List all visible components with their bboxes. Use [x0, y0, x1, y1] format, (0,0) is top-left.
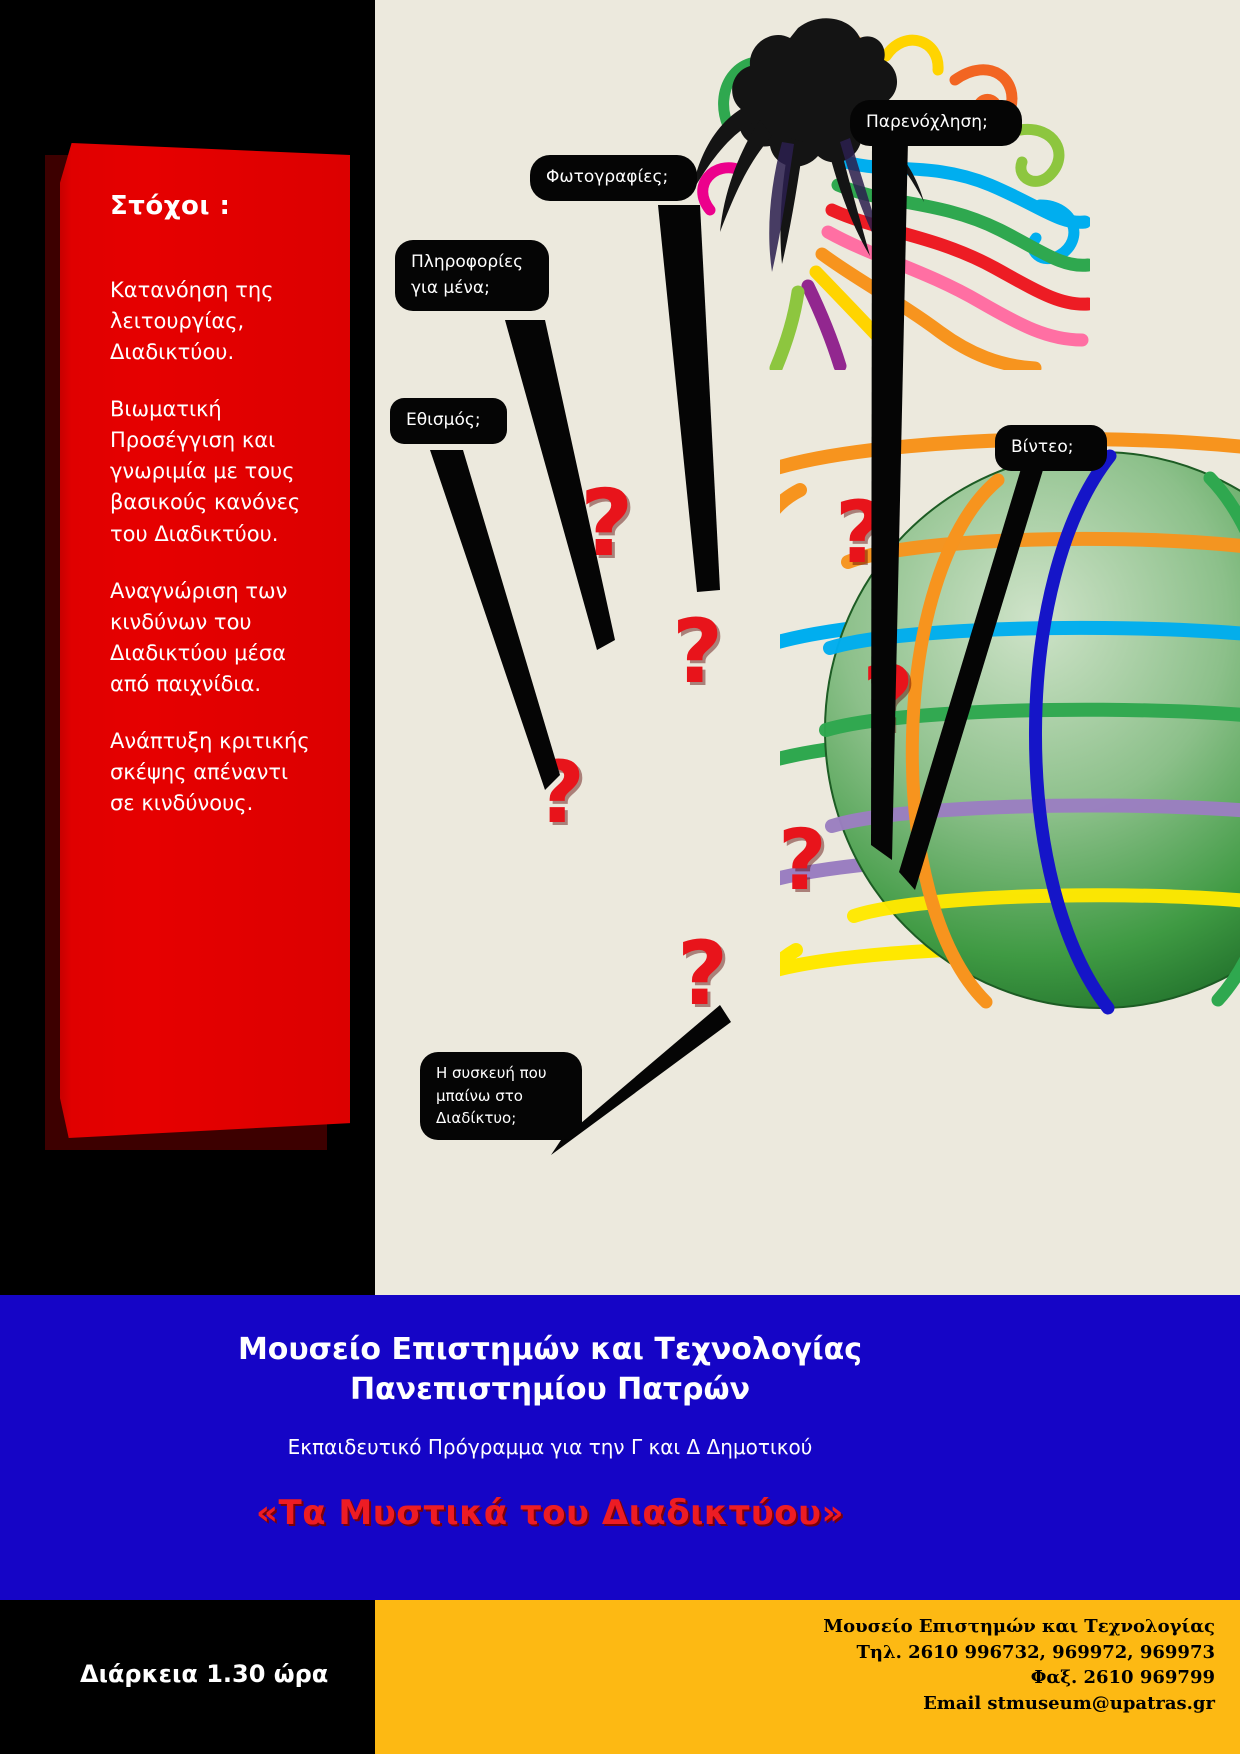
objectives-panel: Στόχοι : Κατανόηση της λειτουργίας, Διαδ… [60, 143, 350, 1138]
pointer-addiction [430, 450, 560, 790]
bubble-video[interactable]: Βίντεο; [995, 425, 1107, 471]
programme-title: «Τα Μυστικά του Διαδικτύου» [0, 1493, 1100, 1533]
artwork-panel: ? ? ? ? ? ? ? Εθισμός; Πληροφορίες για μ… [375, 0, 1240, 1295]
blue-footer-band: Μουσείο Επιστημών και Τεχνολογίας Πανεπι… [0, 1295, 1240, 1600]
objectives-heading: Στόχοι : [110, 191, 318, 221]
contact-details: Μουσείο Επιστημών και Τεχνολογίας Τηλ. 2… [823, 1614, 1215, 1716]
duration-label: Διάρκεια 1.30 ώρα [80, 1660, 328, 1688]
bubble-info[interactable]: Πληροφορίες για μένα; [395, 240, 549, 311]
bubble-device[interactable]: Η συσκευή που μπαίνω στο Διαδίκτυο; [420, 1052, 582, 1140]
objective-paragraph-1: Κατανόηση της λειτουργίας, Διαδικτύου. [110, 275, 318, 368]
contact-box: Μουσείο Επιστημών και Τεχνολογίας Τηλ. 2… [375, 1600, 1240, 1754]
organisation-line-2: Πανεπιστημίου Πατρών [0, 1370, 1100, 1410]
bubble-harassment[interactable]: Παρενόχληση; [850, 100, 1022, 146]
contact-line-phone: Τηλ. 2610 996732, 969972, 969973 [823, 1640, 1215, 1666]
pointer-video [899, 462, 1043, 890]
pointer-photos [658, 205, 720, 592]
bubble-photos[interactable]: Φωτογραφίες; [530, 155, 697, 201]
contact-line-org: Μουσείο Επιστημών και Τεχνολογίας [823, 1614, 1215, 1640]
objective-paragraph-2: Βιωματική Προσέγγιση και γνωριμία με του… [110, 394, 318, 549]
programme-subtitle: Εκπαιδευτικό Πρόγραμμα για την Γ και Δ Δ… [0, 1435, 1100, 1459]
bubble-addiction[interactable]: Εθισμός; [390, 398, 507, 444]
objective-paragraph-3: Αναγνώριση των κινδύνων του Διαδικτύου μ… [110, 576, 318, 700]
contact-line-email[interactable]: Email stmuseum@upatras.gr [823, 1691, 1215, 1717]
contact-line-fax: Φαξ. 2610 969799 [823, 1665, 1215, 1691]
organisation-name: Μουσείο Επιστημών και Τεχνολογίας Πανεπι… [0, 1330, 1100, 1409]
pointer-harassment [871, 140, 908, 860]
pointer-info [505, 320, 615, 650]
objective-paragraph-4: Ανάπτυξη κριτικής σκέψης απέναντι σε κιν… [110, 726, 318, 819]
organisation-line-1: Μουσείο Επιστημών και Τεχνολογίας [0, 1330, 1100, 1370]
poster-root: Στόχοι : Κατανόηση της λειτουργίας, Διαδ… [0, 0, 1240, 1754]
